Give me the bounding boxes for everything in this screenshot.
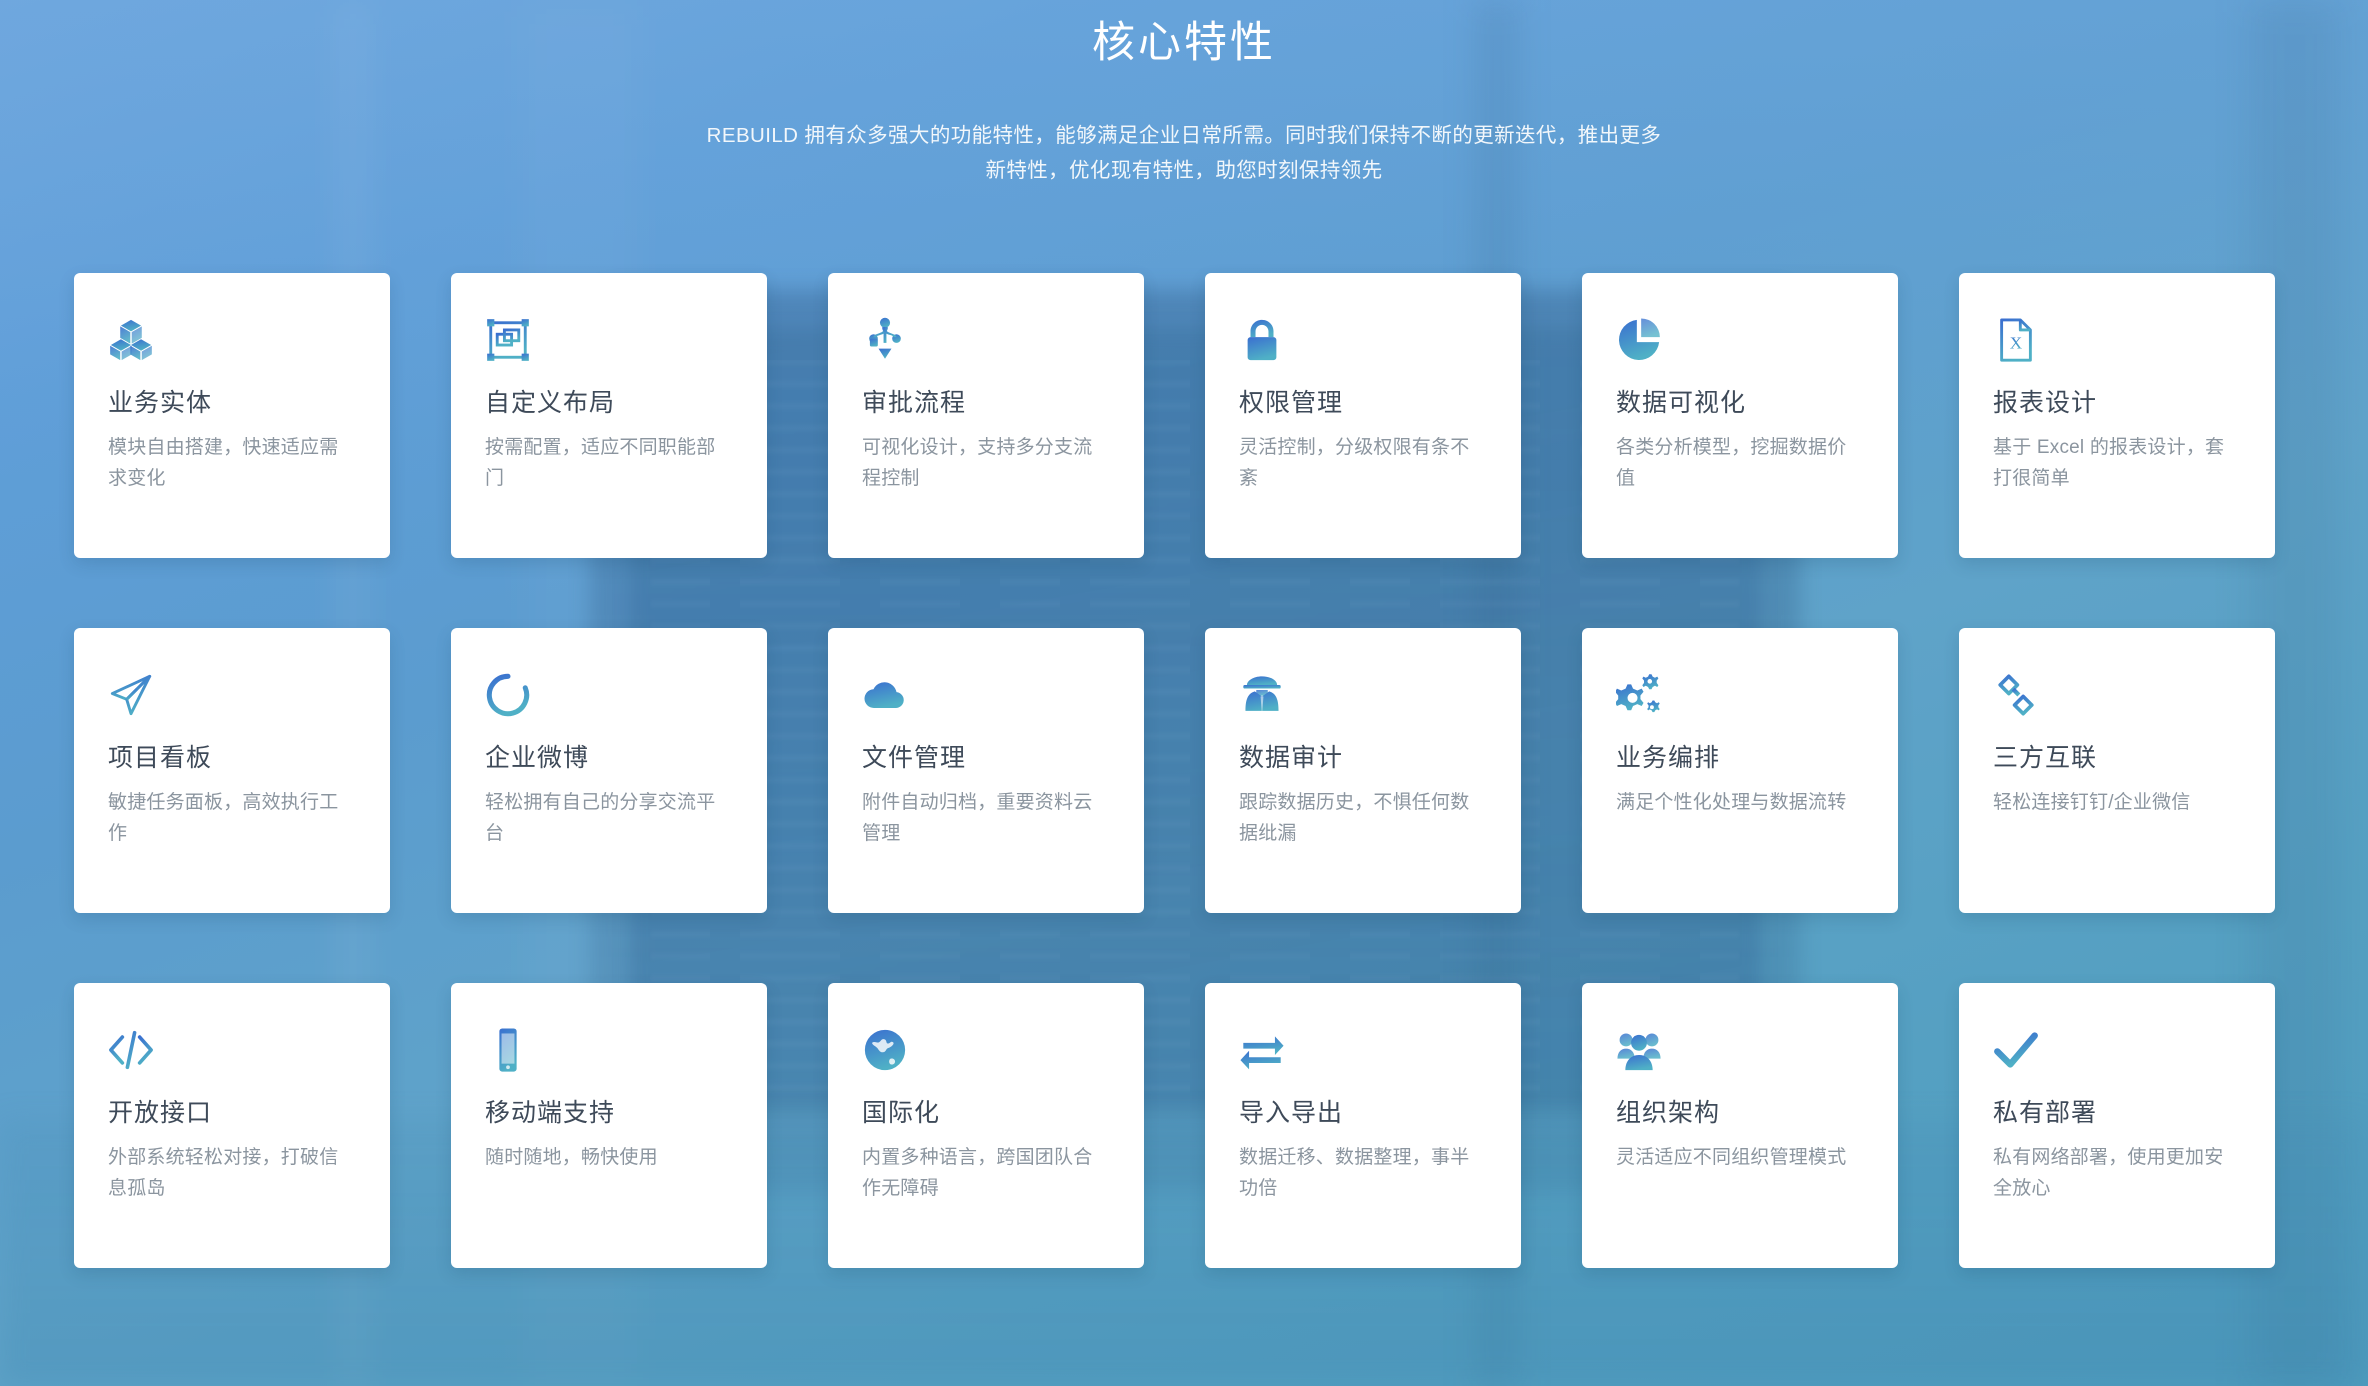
spy-icon: [1239, 672, 1291, 724]
feature-card-title: 企业微博: [485, 742, 733, 775]
feature-card-description: 随时随地，畅快使用: [485, 1143, 733, 1174]
code-brackets-icon: [108, 1027, 160, 1079]
exchange-icon: [1239, 1027, 1291, 1079]
paper-plane-icon: [108, 672, 160, 724]
cubes-icon: [108, 317, 160, 369]
checkmark-icon: [1993, 1027, 2045, 1079]
feature-card-title: 业务实体: [108, 387, 356, 420]
globe-icon: [862, 1027, 914, 1079]
feature-card-description: 基于 Excel 的报表设计，套打很简单: [1993, 433, 2241, 495]
feature-card-description: 按需配置，适应不同职能部门: [485, 433, 733, 495]
feature-card[interactable]: 组织架构灵活适应不同组织管理模式: [1582, 983, 1898, 1268]
feature-card-title: 三方互联: [1993, 742, 2241, 775]
page-title: 核心特性: [0, 14, 2368, 72]
feature-card[interactable]: 审批流程可视化设计，支持多分支流程控制: [828, 273, 1144, 558]
feature-card-description: 附件自动归档，重要资料云管理: [862, 788, 1110, 850]
feature-card-title: 数据可视化: [1616, 387, 1864, 420]
feature-card[interactable]: 私有部署私有网络部署，使用更加安全放心: [1959, 983, 2275, 1268]
excel-file-icon: [1993, 317, 2045, 369]
feature-card-description: 内置多种语言，跨国团队合作无障碍: [862, 1143, 1110, 1205]
feature-card-title: 报表设计: [1993, 387, 2241, 420]
feature-card-description: 数据迁移、数据整理，事半功倍: [1239, 1143, 1487, 1205]
section-header: 核心特性 REBUILD 拥有众多强大的功能特性，能够满足企业日常所需。同时我们…: [0, 0, 2368, 189]
feature-card[interactable]: 权限管理灵活控制，分级权限有条不紊: [1205, 273, 1521, 558]
feature-card[interactable]: 业务实体模块自由搭建，快速适应需求变化: [74, 273, 390, 558]
feature-card[interactable]: 项目看板敏捷任务面板，高效执行工作: [74, 628, 390, 913]
features-page: 核心特性 REBUILD 拥有众多强大的功能特性，能够满足企业日常所需。同时我们…: [0, 0, 2368, 1386]
feature-card[interactable]: 三方互联轻松连接钉钉/企业微信: [1959, 628, 2275, 913]
feature-card-title: 项目看板: [108, 742, 356, 775]
feature-card[interactable]: 企业微博轻松拥有自己的分享交流平台: [451, 628, 767, 913]
feature-card[interactable]: 业务编排满足个性化处理与数据流转: [1582, 628, 1898, 913]
pie-chart-icon: [1616, 317, 1668, 369]
feature-card-title: 移动端支持: [485, 1097, 733, 1130]
feature-card-title: 开放接口: [108, 1097, 356, 1130]
layout-frame-icon: [485, 317, 537, 369]
feature-card[interactable]: 自定义布局按需配置，适应不同职能部门: [451, 273, 767, 558]
feature-card-description: 模块自由搭建，快速适应需求变化: [108, 433, 356, 495]
feature-card[interactable]: 开放接口外部系统轻松对接，打破信息孤岛: [74, 983, 390, 1268]
feature-card-title: 数据审计: [1239, 742, 1487, 775]
feature-card-description: 私有网络部署，使用更加安全放心: [1993, 1143, 2241, 1205]
circle-loop-icon: [485, 672, 537, 724]
feature-card-title: 国际化: [862, 1097, 1110, 1130]
feature-card[interactable]: 文件管理附件自动归档，重要资料云管理: [828, 628, 1144, 913]
feature-card-description: 敏捷任务面板，高效执行工作: [108, 788, 356, 850]
feature-card-title: 业务编排: [1616, 742, 1864, 775]
feature-card[interactable]: 导入导出数据迁移、数据整理，事半功倍: [1205, 983, 1521, 1268]
users-group-icon: [1616, 1027, 1668, 1079]
feature-card-title: 自定义布局: [485, 387, 733, 420]
feature-card[interactable]: 国际化内置多种语言，跨国团队合作无障碍: [828, 983, 1144, 1268]
feature-card-title: 导入导出: [1239, 1097, 1487, 1130]
feature-card-title: 组织架构: [1616, 1097, 1864, 1130]
feature-card-description: 各类分析模型，挖掘数据价值: [1616, 433, 1864, 495]
workflow-icon: [862, 317, 914, 369]
cloud-icon: [862, 672, 914, 724]
feature-card-description: 灵活控制，分级权限有条不紊: [1239, 433, 1487, 495]
feature-card[interactable]: 移动端支持随时随地，畅快使用: [451, 983, 767, 1268]
feature-card-title: 私有部署: [1993, 1097, 2241, 1130]
feature-card-title: 审批流程: [862, 387, 1110, 420]
feature-card-description: 跟踪数据历史，不惧任何数据纰漏: [1239, 788, 1487, 850]
feature-card-description: 轻松拥有自己的分享交流平台: [485, 788, 733, 850]
feature-card-title: 权限管理: [1239, 387, 1487, 420]
feature-card-description: 外部系统轻松对接，打破信息孤岛: [108, 1143, 356, 1205]
lock-icon: [1239, 317, 1291, 369]
feature-card-description: 可视化设计，支持多分支流程控制: [862, 433, 1110, 495]
feature-card-description: 满足个性化处理与数据流转: [1616, 788, 1864, 819]
feature-card-description: 轻松连接钉钉/企业微信: [1993, 788, 2241, 819]
chain-link-icon: [1993, 672, 2045, 724]
page-subtitle: REBUILD 拥有众多强大的功能特性，能够满足企业日常所需。同时我们保持不断的…: [704, 118, 1664, 189]
feature-card[interactable]: 数据审计跟踪数据历史，不惧任何数据纰漏: [1205, 628, 1521, 913]
feature-card-title: 文件管理: [862, 742, 1110, 775]
feature-card[interactable]: 数据可视化各类分析模型，挖掘数据价值: [1582, 273, 1898, 558]
feature-card-description: 灵活适应不同组织管理模式: [1616, 1143, 1864, 1174]
feature-card[interactable]: 报表设计基于 Excel 的报表设计，套打很简单: [1959, 273, 2275, 558]
gears-icon: [1616, 672, 1668, 724]
mobile-phone-icon: [485, 1027, 537, 1079]
feature-grid: 业务实体模块自由搭建，快速适应需求变化自定义布局按需配置，适应不同职能部门审批流…: [74, 273, 2294, 1268]
